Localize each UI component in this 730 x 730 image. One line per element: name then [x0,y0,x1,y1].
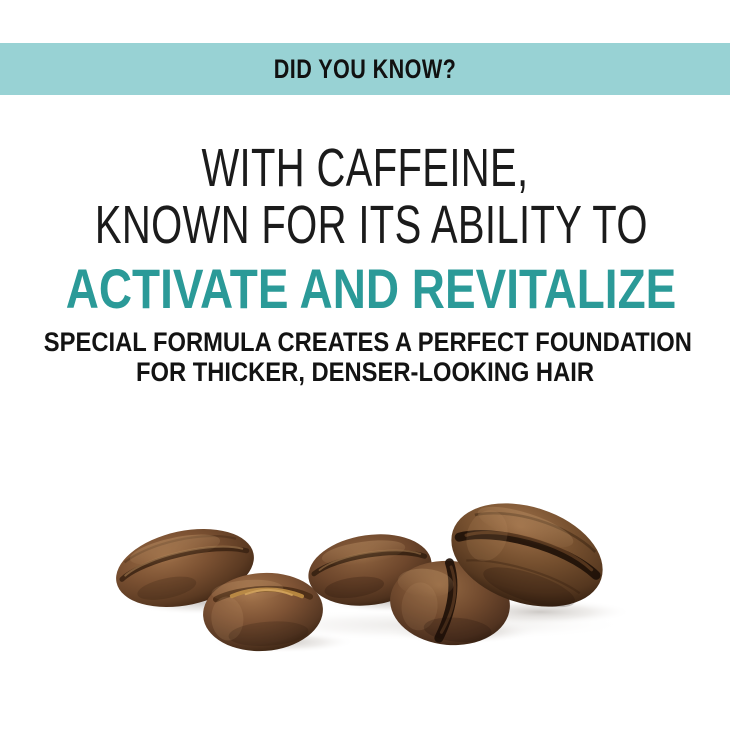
headline-accent-line: ACTIVATE AND REVITALIZE [66,258,665,320]
coffee-beans-image [0,470,730,690]
banner-title: DID YOU KNOW? [274,56,456,83]
headline-line-2: KNOWN FOR ITS ABILITY TO [95,197,635,254]
headline-block: WITH CAFFEINE, KNOWN FOR ITS ABILITY TO … [0,140,730,320]
poster-canvas: DID YOU KNOW? WITH CAFFEINE, KNOWN FOR I… [0,0,730,730]
headline-line-1: WITH CAFFEINE, [95,140,635,197]
subcopy-line-2: FOR THICKER, DENSER-LOOKING HAIR [44,357,686,387]
coffee-beans-illustration [0,470,730,690]
subcopy-block: SPECIAL FORMULA CREATES A PERFECT FOUNDA… [0,327,730,387]
subcopy-line-1: SPECIAL FORMULA CREATES A PERFECT FOUNDA… [44,327,686,357]
did-you-know-banner: DID YOU KNOW? [0,43,730,95]
